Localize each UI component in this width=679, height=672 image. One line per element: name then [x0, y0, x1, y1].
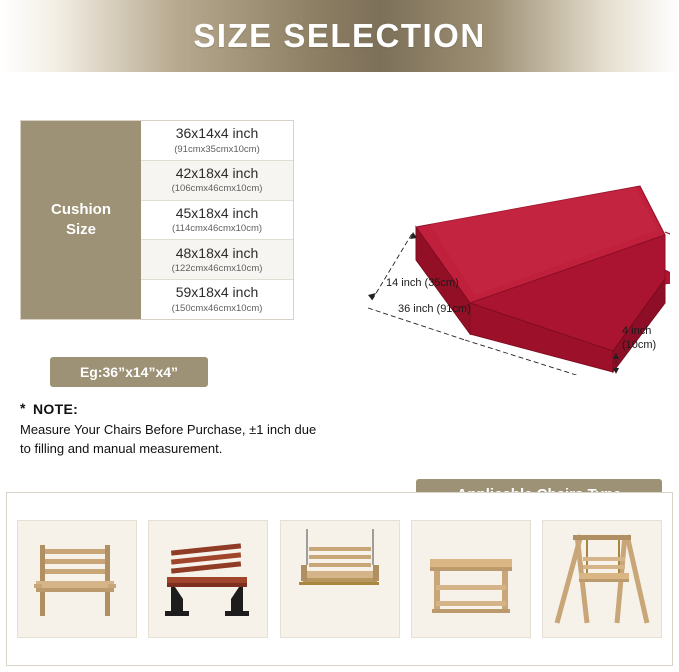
hanging-porch-swing-icon [285, 525, 395, 633]
cushion-size-label-line2: Size [51, 220, 111, 240]
chair-card-hanging-porch-swing [280, 520, 400, 638]
note-title: NOTE: [33, 401, 78, 417]
a-frame-swing-set-icon [547, 525, 657, 633]
cushion-height-dimension-line2: (10cm) [622, 339, 656, 351]
cushion-diagram-svg [310, 120, 670, 375]
cushion-illustration: 14 inch (35cm) 36 inch (91cm) 4 inch (10… [310, 120, 670, 375]
cushion-width-dimension: 14 inch (35cm) [386, 277, 459, 289]
chair-card-park-bench-metal-frame [148, 520, 268, 638]
chair-card-a-frame-swing-set [542, 520, 662, 638]
wooden-garden-bench-icon [22, 529, 132, 629]
cushion-height-dimension-line1: 4 inch [622, 325, 651, 337]
chair-card-wooden-garden-bench [17, 520, 137, 638]
note-body: Measure Your Chairs Before Purchase, ±1 … [20, 421, 320, 459]
size-metric: (122cmx46cmx10cm) [172, 263, 263, 274]
cushion-size-table: Cushion Size 36x14x4 inch (91cmx35cmx10c… [20, 120, 294, 320]
park-bench-metal-frame-icon [153, 529, 263, 629]
table-row: 36x14x4 inch (91cmx35cmx10cm) [141, 121, 293, 161]
size-metric: (150cmx46cmx10cm) [172, 303, 263, 314]
example-size-badge: Eg:36”x14”x4” [50, 357, 208, 387]
size-imperial: 59x18x4 inch [176, 285, 259, 300]
table-row: 48x18x4 inch (122cmx46cmx10cm) [141, 240, 293, 280]
cushion-length-dimension-label: 36 inch (91cm) [398, 303, 471, 315]
table-row: 45x18x4 inch (114cmx46cmx10cm) [141, 201, 293, 241]
header-banner: SIZE SELECTION [0, 0, 679, 72]
table-row: 59x18x4 inch (150cmx46cmx10cm) [141, 280, 293, 319]
size-imperial: 48x18x4 inch [176, 246, 259, 261]
table-row-header-cushion-size: Cushion Size [21, 121, 141, 319]
wooden-shoe-bench-icon [416, 529, 526, 629]
size-metric: (91cmx35cmx10cm) [174, 144, 260, 155]
size-metric: (106cmx46cmx10cm) [172, 183, 263, 194]
note-star-icon: * [20, 400, 25, 416]
size-rows: 36x14x4 inch (91cmx35cmx10cm) 42x18x4 in… [141, 121, 293, 319]
size-imperial: 36x14x4 inch [176, 126, 259, 141]
cushion-size-label-line1: Cushion [51, 200, 111, 220]
size-metric: (114cmx46cmx10cm) [172, 223, 262, 234]
applicable-chairs-panel [6, 492, 673, 666]
chair-card-wooden-shoe-bench [411, 520, 531, 638]
page-title: SIZE SELECTION [0, 0, 679, 72]
table-row: 42x18x4 inch (106cmx46cmx10cm) [141, 161, 293, 201]
size-imperial: 42x18x4 inch [176, 166, 259, 181]
size-imperial: 45x18x4 inch [176, 206, 259, 221]
